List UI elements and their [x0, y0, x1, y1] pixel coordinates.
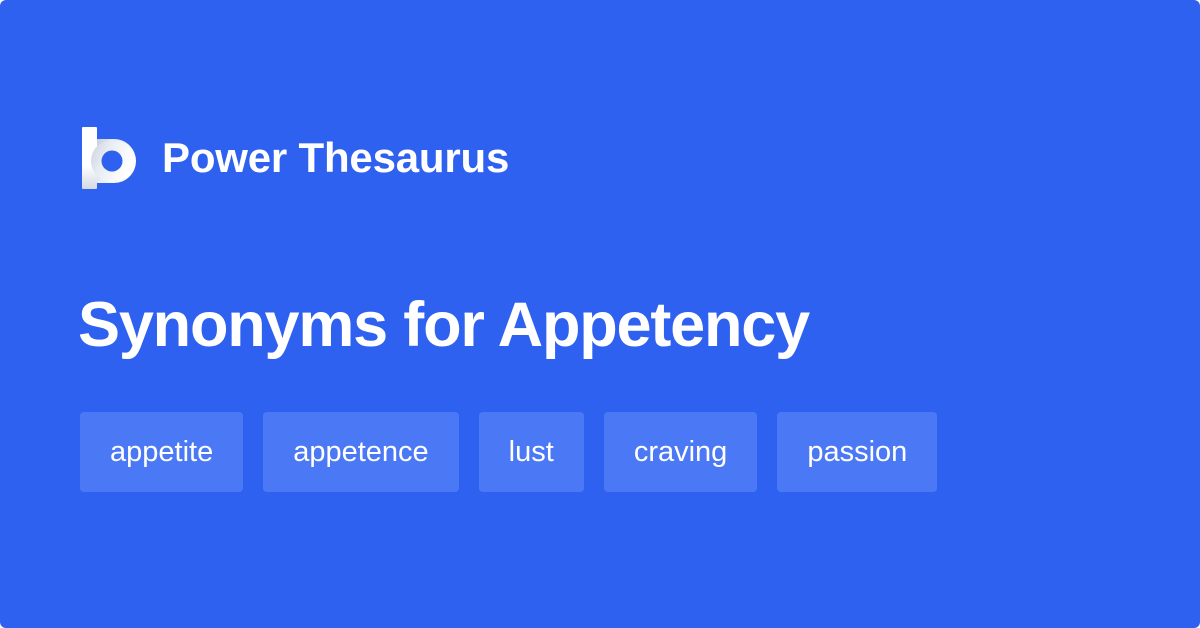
page-title: Synonyms for Appetency [78, 288, 1122, 362]
power-thesaurus-b-logo-icon [80, 127, 138, 189]
synonym-chip[interactable]: craving [604, 412, 758, 492]
synonym-chip[interactable]: appetence [263, 412, 458, 492]
synonym-chip[interactable]: lust [479, 412, 584, 492]
synonym-chip-list: appetite appetence lust craving passion [80, 412, 1130, 492]
synonym-chip[interactable]: appetite [80, 412, 243, 492]
brand-name: power thesaurus [162, 137, 509, 179]
brand-header[interactable]: power thesaurus [80, 124, 509, 192]
synonym-chip[interactable]: passion [777, 412, 937, 492]
share-card: power thesaurus Synonyms for Appetency a… [0, 0, 1200, 628]
